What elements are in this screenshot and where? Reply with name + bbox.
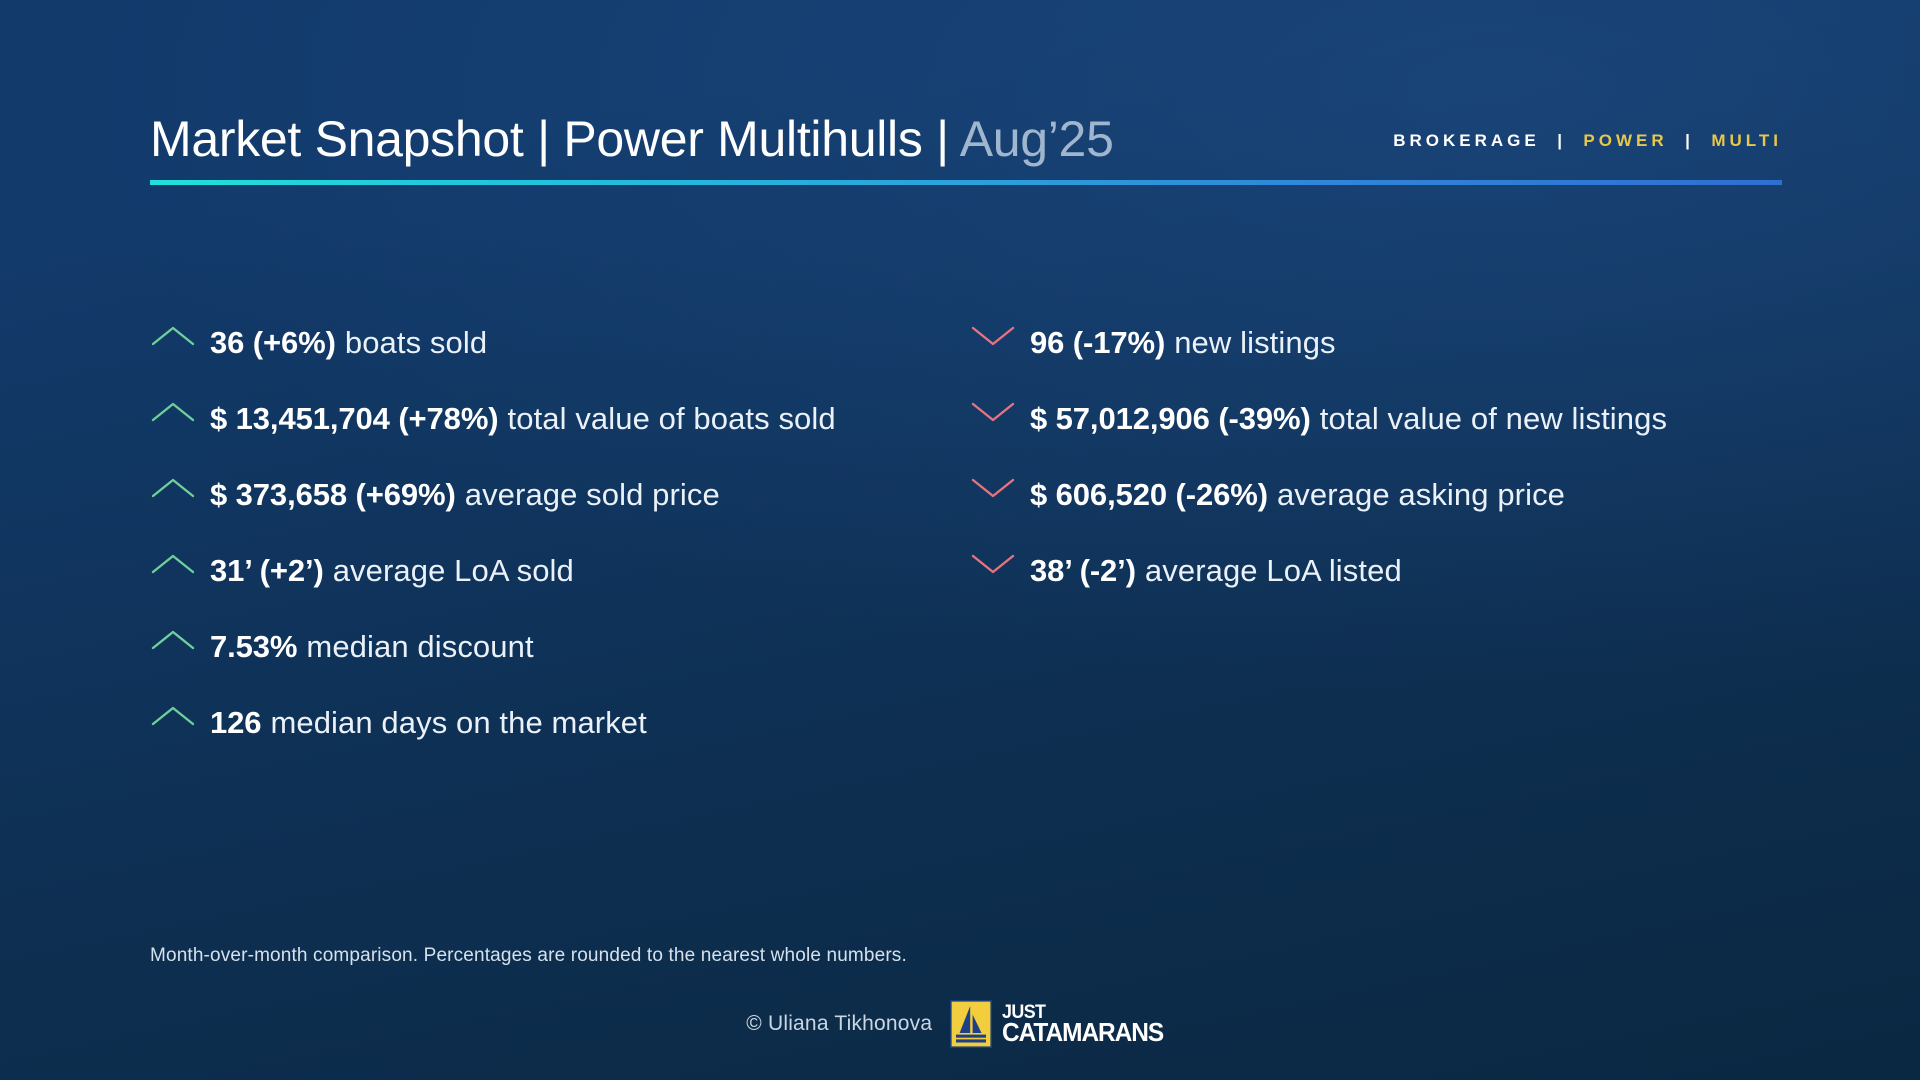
chevron-up-icon	[150, 627, 196, 653]
stat-row: $ 606,520 (-26%)average asking price	[970, 477, 1790, 553]
chevron-up-icon	[150, 323, 196, 349]
brand-tagline: BROKERAGE | POWER | MULTI	[1393, 132, 1782, 149]
copyright-text: © Uliana Tikhonova	[746, 1012, 932, 1036]
stat-row: $ 373,658 (+69%)average sold price	[150, 477, 970, 553]
stat-row: 126median days on the market	[150, 705, 970, 781]
stat-value: 7.53%	[210, 629, 297, 665]
stat-value: $ 373,658 (+69%)	[210, 477, 456, 513]
sailboat-logo-icon	[950, 1000, 992, 1048]
page-title: Market Snapshot | Power Multihulls | Aug…	[150, 114, 1114, 164]
slide-canvas: Market Snapshot | Power Multihulls | Aug…	[0, 0, 1920, 1080]
chevron-up-icon	[150, 703, 196, 729]
stat-value: 126	[210, 705, 261, 741]
stat-row: 7.53%median discount	[150, 629, 970, 705]
stats-column-sold: 36 (+6%)boats sold$ 13,451,704 (+78%)tot…	[150, 325, 970, 781]
stat-label: median discount	[306, 629, 533, 665]
stat-label: boats sold	[345, 325, 487, 361]
stat-value: 96 (-17%)	[1030, 325, 1165, 361]
chevron-down-icon	[970, 475, 1016, 501]
stat-value: $ 57,012,906 (-39%)	[1030, 401, 1311, 437]
brand-logo: JUST CATAMARANS	[950, 1000, 1173, 1048]
stat-label: total value of boats sold	[508, 401, 836, 437]
stat-row: 31’ (+2’)average LoA sold	[150, 553, 970, 629]
stat-value: 31’ (+2’)	[210, 553, 324, 589]
stat-label: average LoA listed	[1145, 553, 1402, 589]
page-title-main: Market Snapshot | Power Multihulls |	[150, 111, 960, 167]
chevron-up-icon	[150, 475, 196, 501]
chevron-up-icon	[150, 399, 196, 425]
tagline-separator-1: |	[1557, 131, 1566, 150]
chevron-down-icon	[970, 551, 1016, 577]
stat-value: $ 13,451,704 (+78%)	[210, 401, 499, 437]
brand-wordmark: JUST CATAMARANS	[1002, 1005, 1173, 1044]
stats-columns: 36 (+6%)boats sold$ 13,451,704 (+78%)tot…	[150, 325, 1790, 781]
stat-value: 38’ (-2’)	[1030, 553, 1136, 589]
chevron-down-icon	[970, 323, 1016, 349]
tagline-separator-2: |	[1685, 131, 1694, 150]
stat-label: total value of new listings	[1320, 401, 1667, 437]
stat-label: average sold price	[465, 477, 720, 513]
stat-label: median days on the market	[270, 705, 646, 741]
slide-header: Market Snapshot | Power Multihulls | Aug…	[150, 108, 1782, 200]
tagline-multi: MULTI	[1711, 131, 1782, 150]
wordmark-catamarans: CATAMARANS	[1002, 1021, 1163, 1043]
stat-value: $ 606,520 (-26%)	[1030, 477, 1268, 513]
stats-column-listings: 96 (-17%)new listings$ 57,012,906 (-39%)…	[970, 325, 1790, 781]
stat-row: 38’ (-2’)average LoA listed	[970, 553, 1790, 629]
chevron-up-icon	[150, 551, 196, 577]
tagline-brokerage: BROKERAGE	[1393, 131, 1540, 150]
page-title-period: Aug’25	[960, 111, 1114, 167]
stat-label: average LoA sold	[333, 553, 574, 589]
chevron-down-icon	[970, 399, 1016, 425]
stat-label: average asking price	[1277, 477, 1565, 513]
stat-row: 96 (-17%)new listings	[970, 325, 1790, 401]
stat-value: 36 (+6%)	[210, 325, 336, 361]
header-underline-rule	[150, 180, 1782, 185]
stat-row: $ 13,451,704 (+78%)total value of boats …	[150, 401, 970, 477]
footnote: Month-over-month comparison. Percentages…	[150, 945, 907, 967]
credit-bar: © Uliana Tikhonova JUST CATAMARANS	[0, 1000, 1920, 1048]
stat-row: 36 (+6%)boats sold	[150, 325, 970, 401]
stat-label: new listings	[1174, 325, 1335, 361]
tagline-power: POWER	[1583, 131, 1667, 150]
stat-row: $ 57,012,906 (-39%)total value of new li…	[970, 401, 1790, 477]
